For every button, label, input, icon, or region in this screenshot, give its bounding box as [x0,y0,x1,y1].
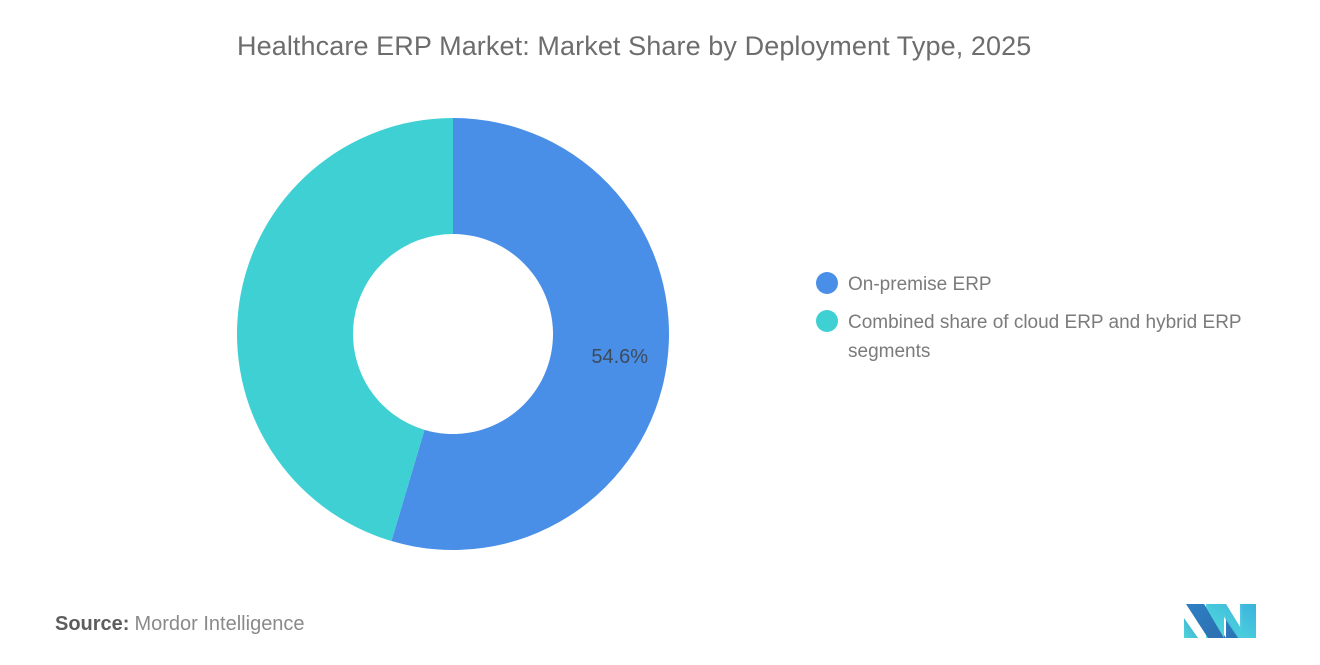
legend-item-label: On-premise ERP [848,270,992,299]
legend-swatch-icon [816,272,838,294]
logo-mark-icon [1182,596,1260,640]
page-title: Healthcare ERP Market: Market Share by D… [237,31,1031,62]
donut-chart: 54.6% [237,118,669,550]
chart-canvas: Healthcare ERP Market: Market Share by D… [0,0,1320,665]
mordor-intelligence-logo [1182,596,1260,640]
source-line: Source:Mordor Intelligence [55,613,305,636]
source-label: Source: [55,613,129,635]
legend-item-label: Combined share of cloud ERP and hybrid E… [848,308,1268,366]
legend-swatch-icon [816,310,838,332]
chart-legend: On-premise ERPCombined share of cloud ER… [816,270,1276,375]
source-value: Mordor Intelligence [134,613,304,635]
donut-svg [237,118,669,550]
legend-item-1[interactable]: Combined share of cloud ERP and hybrid E… [816,308,1276,366]
legend-item-0[interactable]: On-premise ERP [816,270,1276,299]
